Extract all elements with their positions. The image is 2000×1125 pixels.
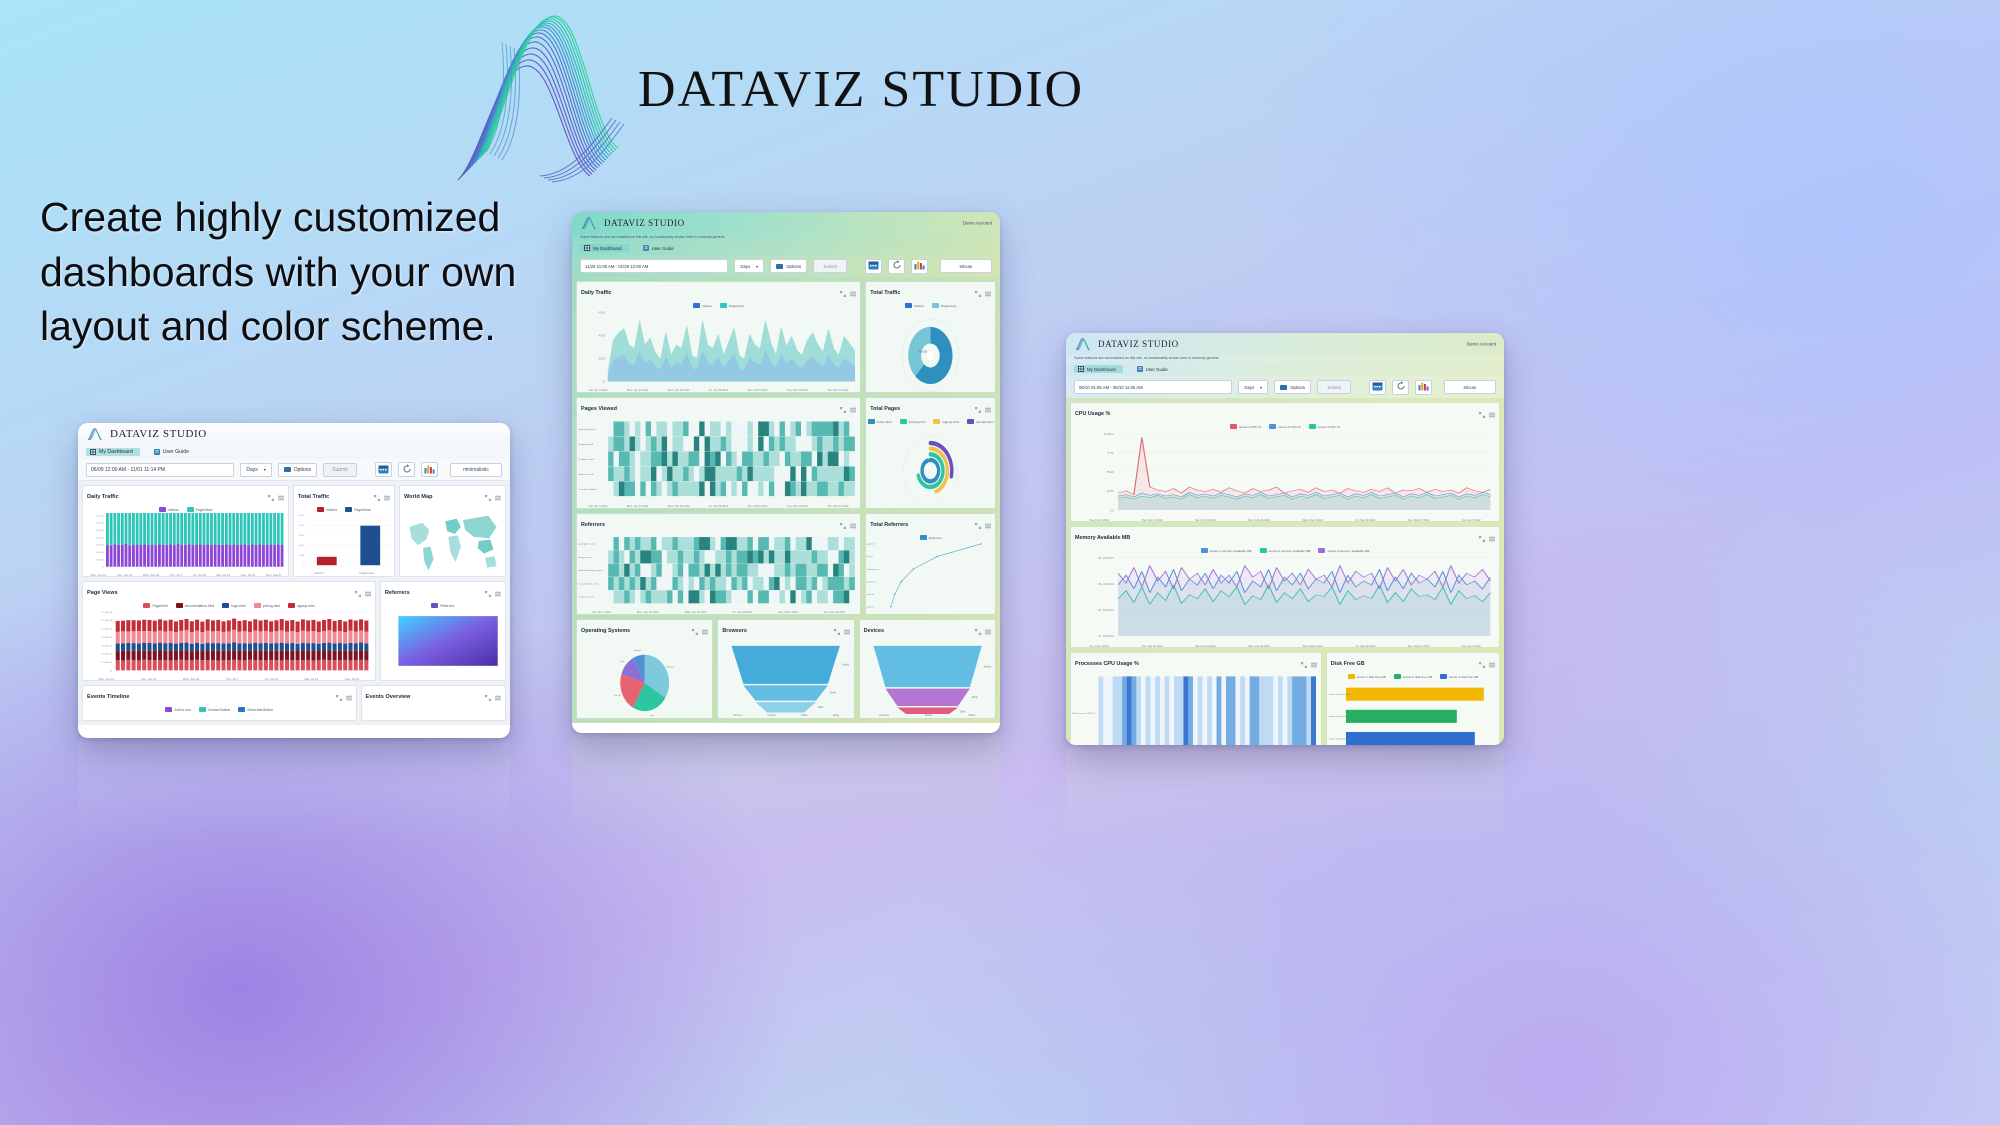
x-tick-label: Edge [833,714,839,717]
svg-text:/docs.html: /docs.html [578,473,593,476]
legend-label: server-2 memory available MB [1269,549,1311,553]
legend-entry[interactable]: Visitors [905,303,924,308]
expand-icon[interactable] [975,400,981,418]
legend-swatch [1318,548,1325,553]
date-range-input[interactable]: 06/10 01:05 AM - 06/10 11:05 AM [1074,380,1232,394]
expand-icon[interactable] [1479,655,1485,673]
slide-canvas: DATAVIZ STUDIO Create highly customized … [0,0,2000,1125]
svg-text:Chrome: Chrome [842,665,850,667]
legend-swatch [933,419,940,424]
unit-select[interactable]: Minute [1444,380,1496,394]
panel-disk-free-gb[interactable]: Disk Free GBserver-1 disk free GBserver-… [1326,652,1500,745]
expand-icon[interactable] [374,488,380,506]
legend-label: Visitors [326,508,337,512]
calendar-icon [868,257,879,275]
legend-swatch [720,303,727,308]
svg-text:duckduckgo.com: duckduckgo.com [867,569,879,571]
legend-entry[interactable]: login.html [222,603,246,608]
x-tick-label: Sat, Jul 23 [305,677,319,679]
panel-title: Page Views [87,590,118,596]
legend-entry[interactable]: /signup.html [933,419,959,424]
legend-entry[interactable]: Visitors [159,507,179,512]
submit-button[interactable]: Submit [323,463,357,477]
refresh-button[interactable] [398,462,415,477]
Events Overview-svg [362,706,505,720]
svg-text:600: 600 [598,311,605,314]
svg-text:server-3 disk free GB: server-3 disk free GB [1328,738,1350,740]
refresh-icon [1396,378,1406,396]
legend-entry[interactable]: Visitors [317,507,337,512]
chevron-down-icon: ▾ [756,264,758,269]
legend-entry[interactable]: pricing.html [254,603,280,608]
panel-actions [1301,655,1317,673]
panel-plot[interactable]: 01,0002,0003,0004,0005,0006,0007,000 [83,609,375,677]
panel-operating-systems[interactable]: Operating SystemsWindowsLinuxMac OSOther… [576,619,713,719]
x-axis-labels: Tue, Feb 1 2022Thu, Feb 10 2022Sat, Feb … [1071,519,1499,521]
time-unit-dropdown[interactable]: Days▾ [734,259,764,273]
window-titlebar: DATAVIZ STUDIO [78,423,510,445]
Referrers-svg [381,609,505,680]
legend-entry[interactable]: server-3 memory available MB [1318,548,1369,553]
panel-total-referrers[interactable]: Total ReferrersReferrersgoogle.combing.c… [865,513,996,615]
legend-swatch [1394,674,1401,679]
legend-entry[interactable]: Visitors [693,303,712,308]
refresh-button[interactable] [888,259,905,274]
svg-text:1,000: 1,000 [96,559,104,561]
legend-swatch [1201,548,1208,553]
expand-icon[interactable] [485,584,491,602]
menu-icon[interactable] [1311,655,1317,673]
panel-plot[interactable] [83,713,356,720]
panel-page-views[interactable]: Page ViewsPage/htmldocumentation.htmllog… [82,581,376,681]
x-tick-label: Firefox [767,714,775,717]
panel-plot[interactable]: server-1 disk free GBserver-2 disk free … [1327,680,1499,745]
expand-icon[interactable] [485,688,491,706]
Disk Free GB-svg: server-1 disk free GBserver-2 disk free … [1327,680,1499,745]
menu-icon[interactable] [844,622,850,640]
svg-text:Processes CPU %: Processes CPU % [1072,712,1096,714]
CPU Usage %-svg: 0255075100 [1071,430,1499,519]
panel-title: Events Timeline [87,694,130,700]
expand-icon[interactable] [355,584,361,602]
menu-icon[interactable] [850,284,856,302]
x-tick-label: Tue, Jun 21 [117,573,132,575]
legend-entry[interactable]: signup.html [288,603,314,608]
x-tick-label: Mon, Feb 28 2022 [1248,645,1270,646]
panel-header: Events Timeline [83,686,356,706]
x-tick-label: Tue, Feb 1 2022 [1089,645,1109,646]
x-tick-label: Sat, Feb 19 2022 [1195,645,1216,646]
panel-actions [975,516,991,534]
menu-icon[interactable] [278,488,284,506]
tab-my-dashboard[interactable]: My Dashboard [1074,365,1123,373]
panel-title: Devices [864,628,884,634]
x-tick-label: Visitors [314,571,323,575]
panel-plot[interactable] [362,706,505,720]
legend-entry[interactable]: server-3 disk free GB [1440,674,1478,679]
svg-text:2,000: 2,000 [1098,609,1114,612]
submit-button[interactable]: Submit [813,259,847,273]
legend-swatch [222,603,229,608]
tab-user-guide[interactable]: User Guide [1133,365,1175,373]
menu-icon[interactable] [985,622,991,640]
panel-plot[interactable]: 050,000100,000150,000200,000250,000 [294,513,394,571]
tab-user-guide[interactable]: User Guide [150,448,196,456]
x-tick-label: Mon, Jan 10 2022 [627,389,649,391]
legend-entry[interactable]: server-1 memory available MB [1201,548,1252,553]
legend-entry[interactable]: /pricing.html [900,419,926,424]
chevron-down-icon: ▾ [264,467,266,472]
expand-icon[interactable] [692,622,698,640]
svg-text:server-2 disk free GB: server-2 disk free GB [1328,716,1350,718]
date-range-input[interactable]: 11/26 11:05 AM - 01/29 12:00 AM [580,259,728,273]
legend-swatch [288,603,295,608]
legend-entry[interactable]: Subscribe Button [238,707,273,712]
panel-plot[interactable] [400,506,505,576]
panel-legend: VisitorsPageViews [577,302,860,309]
Browsers-svg: ChromeFirefoxSafariEdge [718,640,853,714]
menu-icon[interactable] [850,400,856,418]
bar-chart-icon [1418,378,1429,396]
menu-icon[interactable] [365,584,371,602]
panel-header: Events Overview [362,686,505,706]
legend-swatch [920,535,927,540]
x-tick-label: Fri, Mar 18 2022 [1356,645,1376,646]
panel-processes-cpu-usage-[interactable]: Processes CPU Usage %Processes CPU %Tue,… [1070,652,1322,745]
svg-text:Android: Android [634,649,640,652]
x-tick-label: Safari [801,714,808,717]
menu-icon[interactable] [985,284,991,302]
legend-swatch [254,603,261,608]
panel-total-pages[interactable]: Total Pages/index.html/pricing.html/sign… [865,397,996,509]
panel-pages-viewed[interactable]: Pages Viewed/pricing.html/login.html/ind… [576,397,861,509]
panel-title: Memory Available MB [1075,535,1130,541]
panel-title: Referrers [581,522,605,528]
expand-icon[interactable] [840,400,846,418]
panel-memory-available-mb[interactable]: Memory Available MBserver-1 memory avail… [1070,526,1500,648]
panel-world-map[interactable]: World Map [399,485,506,577]
menu-icon[interactable] [1489,405,1495,423]
svg-text:Linux: Linux [650,715,654,717]
x-tick-label: Wed, Jun 29 [183,677,199,679]
panel-total-traffic[interactable]: Total TrafficVisitorsPageViews050,000100… [293,485,395,577]
panel-plot[interactable]: 01,0002,0003,0004,0005,0006,0007,000 [83,513,288,573]
Page Views-svg: 01,0002,0003,0004,0005,0006,0007,000 [83,609,375,677]
calendar-view-button[interactable] [1369,380,1386,395]
svg-text:50,000: 50,000 [299,555,304,557]
expand-icon[interactable] [834,622,840,640]
svg-text:0: 0 [603,380,605,383]
expand-icon[interactable] [975,284,981,302]
panel-total-traffic[interactable]: Total TrafficVisitorsPageViewsTotal 1526 [865,281,996,393]
menu-icon[interactable] [495,584,501,602]
grid-icon [90,449,96,455]
submit-button[interactable]: Submit [1317,380,1351,394]
panel-row: CPU Usage %server-1 CPU %server-2 CPU %s… [1070,402,1500,522]
legend-entry[interactable]: Add to cart [165,707,190,712]
x-tick-label: Sat, Jan 1 2022 [589,389,608,391]
x-tick-label: Sun, Jul 31 [241,573,255,575]
x-tick-label: Tue, Feb 15 2022 [787,505,808,507]
tab-my-dashboard[interactable]: My Dashboard [86,448,140,456]
svg-text:Desktop: Desktop [984,665,992,668]
legend-entry[interactable]: documentation.html [176,603,215,608]
panel-header: Referrers [577,514,860,534]
legend-label: Add to cart [174,708,190,712]
wordmark: DATAVIZ STUDIO [638,60,1084,119]
reflection-left [78,738,510,888]
tab-my-dashboard[interactable]: My Dashboard [580,244,629,252]
expand-icon[interactable] [840,284,846,302]
reflection-right [1066,745,1504,895]
panel-actions [975,284,991,302]
menu-icon[interactable] [850,516,856,534]
menu-icon[interactable] [702,622,708,640]
legend-swatch [345,507,352,512]
legend-label: server-3 memory available MB [1327,549,1369,553]
panel-title: Total Traffic [870,290,900,296]
x-tick-label: Chrome [733,714,743,717]
panel-header: Devices [860,620,995,640]
x-tick-label: Mon, Feb 28 2022 [1248,519,1270,520]
panel-plot[interactable]: ChromeFirefoxSafariEdge [718,640,853,714]
panel-referrers[interactable]: Referrersgoogle.combing.comduckduckgo.co… [576,513,861,615]
svg-text:6,000: 6,000 [101,619,112,621]
calendar-view-button[interactable] [865,259,882,274]
legend-swatch [693,303,700,308]
panel-events-timeline[interactable]: Events TimelineAdd to cartContact Button… [82,685,357,721]
panel-title: Browsers [722,628,747,634]
panel-legend: Add to cartContact ButtonSubscribe Butto… [83,706,356,713]
x-tick-label: Mon, Jan 10 2022 [627,505,649,507]
svg-text:google.com: google.com [578,542,595,545]
panel-browsers[interactable]: BrowsersChromeFirefoxSafariEdgeChromeFir… [717,619,854,719]
panel-actions [485,488,501,506]
svg-text:twitter.com: twitter.com [578,596,593,599]
expand-icon[interactable] [268,488,274,506]
legend-swatch [1309,424,1316,429]
expand-icon[interactable] [1479,529,1485,547]
menu-icon[interactable] [495,688,501,706]
panel-plot[interactable]: 1,0002,0003,0004,000 [1071,554,1499,645]
panel-title: Daily Traffic [87,494,119,500]
panel-devices[interactable]: DevicesDesktopMobileTabletDesktopMobileT… [859,619,996,719]
panel-referrers[interactable]: ReferrersReferrers [380,581,506,681]
panel-actions [374,488,390,506]
options-button[interactable]: Options [770,259,807,273]
menu-icon[interactable] [985,400,991,418]
options-label: Options [1290,385,1305,390]
svg-text:200: 200 [598,357,605,360]
Daily Traffic-svg: 01,0002,0003,0004,0005,0006,0007,000 [83,513,288,573]
expand-icon[interactable] [975,622,981,640]
legend-entry[interactable]: server-2 CPU % [1269,424,1300,429]
svg-text:bing.com: bing.com [867,556,874,558]
legend-entry[interactable]: Contact Button [199,707,230,712]
options-label: Options [786,264,801,269]
calendar-icon [1372,378,1383,396]
x-tick-label: Sun, Feb 6 2022 [748,505,768,507]
tab-user-guide[interactable]: User Guide [639,244,681,252]
panel-legend: Page/htmldocumentation.htmllogin.htmlpri… [83,602,375,609]
panel-title: Processes CPU Usage % [1075,661,1139,667]
panel-plot[interactable]: Total 1526 [866,309,995,392]
x-tick-label: Sat, Jan 1 2022 [592,611,611,613]
expand-icon[interactable] [975,516,981,534]
x-tick-label: Sun, Mar 27 2022 [1408,519,1429,520]
panel-header: Pages Viewed [577,398,860,418]
panel-daily-traffic[interactable]: Daily TrafficVisitorsPageViews0200400600… [576,281,861,393]
svg-text:75: 75 [1107,452,1114,455]
panel-daily-traffic[interactable]: Daily TrafficVisitorsPageViews01,0002,00… [82,485,289,577]
panel-cpu-usage-[interactable]: CPU Usage %server-1 CPU %server-2 CPU %s… [1070,402,1500,522]
legend-entry[interactable]: Referrers [920,535,942,540]
x-tick-label: Fri, Jan 28 2022 [709,389,728,391]
unit-select[interactable]: minimalistic [450,463,502,477]
svg-text:google.com: google.com [867,544,876,546]
wave-curves-logo [440,8,670,183]
panel-title: Events Overview [366,694,411,700]
dashboard-window-center[interactable]: DATAVIZ STUDIODemo AccountSome features … [572,212,1000,733]
legend-entry[interactable]: PageViews [345,507,371,512]
expand-icon[interactable] [1301,655,1307,673]
legend-swatch [1440,674,1447,679]
legend-entry[interactable]: server-2 memory available MB [1260,548,1311,553]
legend-label: server-3 disk free GB [1449,675,1478,679]
refresh-button[interactable] [1392,380,1409,395]
world-map-svg [400,506,505,576]
legend-swatch [143,603,150,608]
legend-swatch [900,419,907,424]
svg-text:150,000: 150,000 [299,535,304,537]
legend-label: signup.html [297,604,314,608]
calendar-view-button[interactable] [375,462,392,477]
legend-entry[interactable]: Page/html [143,603,167,608]
legend-entry[interactable]: Referrers [431,603,454,608]
legend-label: PageViews [729,304,744,308]
legend-entry[interactable]: PageViews [187,507,213,512]
panel-actions [840,400,856,418]
tab-label: My Dashboard [1087,367,1116,372]
legend-entry[interactable]: server-2 disk free GB [1394,674,1432,679]
dashboard-window-left[interactable]: DATAVIZ STUDIOMy DashboardUser Guide06/0… [78,423,510,738]
menu-icon[interactable] [346,688,352,706]
x-tick-label: Tue, Jun 21 [141,677,156,679]
legend-label: login.html [231,604,246,608]
x-tick-label: PageViews [360,571,374,575]
panel-title: Daily Traffic [581,290,612,296]
app-title: DATAVIZ STUDIO [1098,339,1179,349]
menu-icon[interactable] [1489,529,1495,547]
dashboard-window-right[interactable]: DATAVIZ STUDIODemo AccountSome features … [1066,333,1504,745]
legend-entry[interactable]: PageViews [932,303,956,308]
panel-plot[interactable]: google.combing.comduckduckgo.comfacebook… [577,534,860,611]
chart-view-button[interactable] [911,259,928,274]
svg-text:3,000: 3,000 [1098,583,1114,586]
legend-label: Subscribe Button [247,708,273,712]
time-unit-dropdown[interactable]: Days▾ [1238,380,1268,394]
panel-plot[interactable] [381,609,505,680]
time-unit-dropdown[interactable]: Days▾ [240,463,271,477]
options-button[interactable]: Options [278,463,317,477]
tab-bar: My DashboardUser Guide [1066,362,1504,376]
brand-lockup: DATAVIZ STUDIO [440,8,1060,188]
user-account-label[interactable]: Demo Account [963,221,992,226]
legend-swatch [238,707,245,712]
svg-text:/contact.html: /contact.html [578,488,597,491]
panel-plot[interactable]: WindowsLinuxMac OSOtherAndroid [577,640,712,718]
legend-swatch [176,603,183,608]
unit-select[interactable]: Minute [940,259,992,273]
svg-text:Total 1526: Total 1526 [918,350,928,353]
expand-icon[interactable] [1479,405,1485,423]
legend-swatch [1269,424,1276,429]
tab-label: My Dashboard [593,246,622,251]
x-tick-label: Tue, Feb 1 2022 [1089,519,1109,520]
x-axis-labels: Sat, Jan 1 2022Mon, Jan 10 2022Wed, Jan … [577,505,860,508]
dashboard-toolbar: 06/09 12:00 AM - 11/01 11:14 PMDays▾Opti… [78,459,510,481]
panel-plot[interactable]: Processes CPU % [1071,673,1321,745]
menu-icon[interactable] [985,516,991,534]
tab-label: User Guide [163,449,189,455]
x-tick-label: Tue, Apr 5 2022 [1462,645,1481,646]
legend-entry[interactable]: /index.html [868,419,892,424]
chart-view-button[interactable] [421,462,438,477]
panel-legend: server-1 CPU %server-2 CPU %server-3 CPU… [1071,423,1499,430]
expand-icon[interactable] [336,688,342,706]
legend-label: Visitors [702,304,712,308]
expand-icon[interactable] [840,516,846,534]
panel-header: Page Views [83,582,375,602]
panel-plot[interactable]: google.combing.comduckduckgo.comfacebook… [866,541,995,614]
menu-icon[interactable] [495,488,501,506]
panel-events-overview[interactable]: Events Overview [361,685,506,721]
x-tick-label: Mon, Jun 13 [98,677,114,679]
x-tick-label: Tue, Feb 15 2022 [824,611,845,613]
x-tick-label: Thu, Feb 10 2022 [1141,519,1162,520]
chart-view-button[interactable] [1415,380,1432,395]
date-range-input[interactable]: 06/09 12:00 AM - 11/01 11:14 PM [86,463,234,477]
panel-plot[interactable]: 0255075100 [1071,430,1499,519]
panel-header: Referrers [381,582,505,602]
user-account-label[interactable]: Demo Account [1467,342,1496,347]
legend-entry[interactable]: /contact.html [967,419,994,424]
panel-plot[interactable] [866,425,995,508]
Processes CPU Usage %-svg: Processes CPU % [1071,673,1321,745]
panel-legend: VisitorsPageViews [83,506,288,513]
panel-plot[interactable]: /pricing.html/login.html/index.html/docs… [577,418,860,505]
legend-swatch [1260,548,1267,553]
panel-plot[interactable]: 0200400600 [577,309,860,389]
panel-plot[interactable]: DesktopMobileTablet [860,640,995,714]
menu-icon[interactable] [384,488,390,506]
window-titlebar: DATAVIZ STUDIODemo Account [572,212,1000,234]
legend-label: server-2 CPU % [1278,425,1300,429]
panel-header: Disk Free GB [1327,653,1499,673]
options-button[interactable]: Options [1274,380,1311,394]
expand-icon[interactable] [485,488,491,506]
legend-entry[interactable]: PageViews [720,303,744,308]
legend-entry[interactable]: server-1 CPU % [1230,424,1261,429]
legend-entry[interactable]: server-1 disk free GB [1348,674,1386,679]
panel-actions [840,516,856,534]
legend-entry[interactable]: server-3 CPU % [1309,424,1340,429]
calendar-icon [378,461,389,479]
panel-row: Operating SystemsWindowsLinuxMac OSOther… [576,619,996,719]
menu-icon[interactable] [1489,655,1495,673]
legend-label: Referrers [929,536,942,540]
Memory Available MB-svg: 1,0002,0003,0004,000 [1071,554,1499,645]
